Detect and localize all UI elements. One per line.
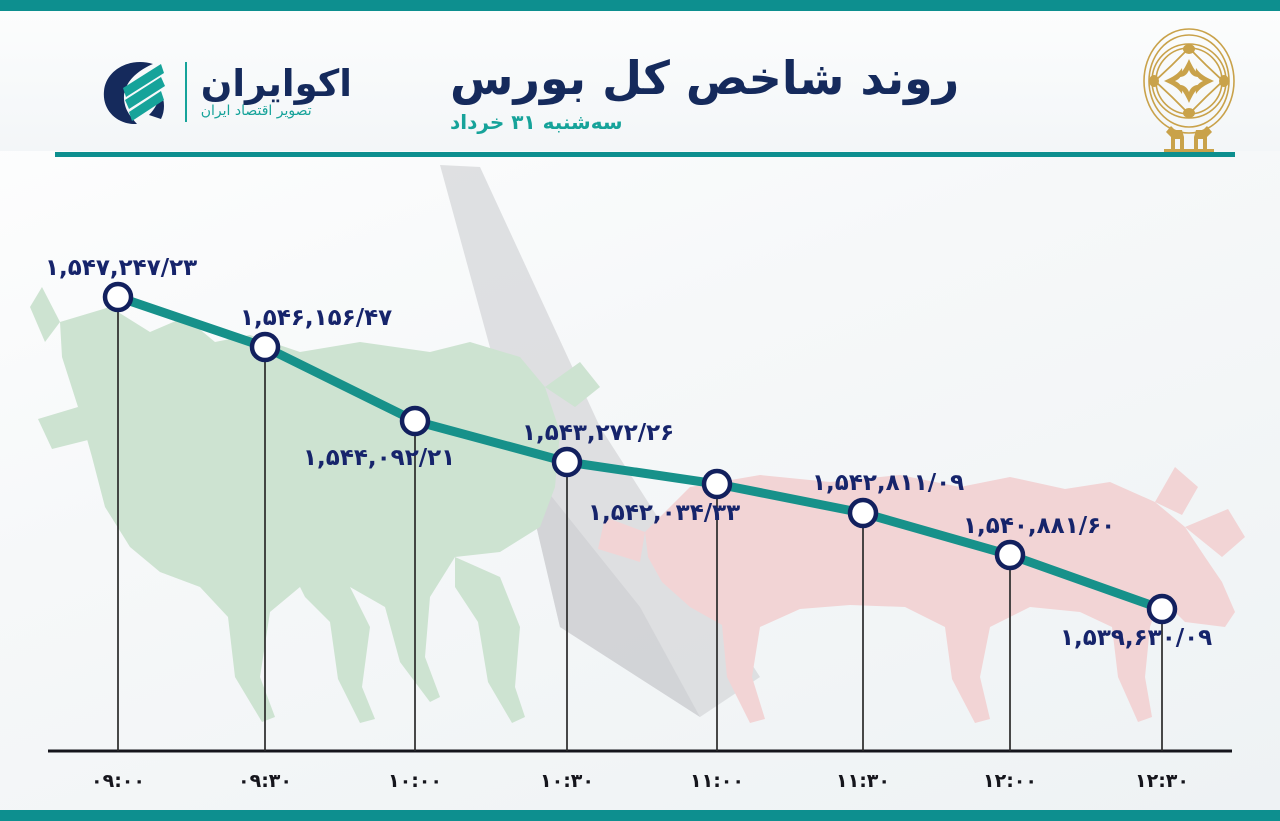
bottom-accent-bar <box>0 810 1280 821</box>
eco-iran-swoosh-logo-icon <box>91 55 171 129</box>
vertical-divider-icon <box>185 62 187 122</box>
data-point-marker[interactable] <box>554 449 580 475</box>
data-point-marker[interactable] <box>252 334 278 360</box>
x-tick-label: ۰۹:۰۰ <box>91 770 145 792</box>
x-tick-label: ۱۱:۰۰ <box>690 770 744 792</box>
brand-tagline: تصویر اقتصاد ایران <box>201 104 312 118</box>
brand-logo: اکوایران تصویر اقتصاد ایران <box>52 49 352 134</box>
top-accent-bar <box>0 0 1280 11</box>
data-point-marker[interactable] <box>402 408 428 434</box>
value-label: ۱,۵۴۲,۰۳۴/۳۳ <box>588 500 740 526</box>
page-subtitle-date: سه‌شنبه ۳۱ خرداد <box>450 110 623 134</box>
x-tick-label: ۱۲:۳۰ <box>1135 770 1189 792</box>
value-label: ۱,۵۴۳,۲۷۲/۲۶ <box>522 420 674 446</box>
value-label: ۱,۵۴۶,۱۵۶/۴۷ <box>240 305 392 331</box>
value-label: ۱,۵۴۷,۲۴۷/۲۳ <box>45 255 197 281</box>
value-label: ۱,۵۴۴,۰۹۲/۲۱ <box>303 445 455 471</box>
data-point-marker[interactable] <box>850 500 876 526</box>
value-label: ۱,۵۴۰,۸۸۱/۶۰ <box>963 513 1115 539</box>
chart-area: ۱,۵۴۷,۲۴۷/۲۳ ۱,۵۴۶,۱۵۶/۴۷ ۱,۵۴۴,۰۹۲/۲۱ ۱… <box>0 157 1280 810</box>
brand-text: اکوایران تصویر اقتصاد ایران <box>201 65 352 118</box>
brand-name: اکوایران <box>201 65 352 102</box>
data-point-marker[interactable] <box>997 542 1023 568</box>
header: اکوایران تصویر اقتصاد ایران روند شاخص کل… <box>0 11 1280 151</box>
x-tick-label: ۱۲:۰۰ <box>983 770 1037 792</box>
x-tick-label: ۱۰:۳۰ <box>540 770 594 792</box>
x-tick-label: ۱۱:۳۰ <box>836 770 890 792</box>
x-tick-label: ۰۹:۳۰ <box>238 770 292 792</box>
infographic-canvas: اکوایران تصویر اقتصاد ایران روند شاخص کل… <box>0 0 1280 821</box>
value-label: ۱,۵۴۲,۸۱۱/۰۹ <box>812 470 964 496</box>
data-point-marker[interactable] <box>1149 596 1175 622</box>
title-block: روند شاخص کل بورس سه‌شنبه ۳۱ خرداد <box>450 31 1110 155</box>
data-point-marker[interactable] <box>105 284 131 310</box>
tehran-stock-exchange-emblem-icon <box>1130 25 1248 155</box>
data-point-marker[interactable] <box>704 471 730 497</box>
x-tick-label: ۱۰:۰۰ <box>388 770 442 792</box>
page-title: روند شاخص کل بورس <box>450 52 959 105</box>
value-label: ۱,۵۳۹,۶۳۰/۰۹ <box>1060 625 1212 651</box>
